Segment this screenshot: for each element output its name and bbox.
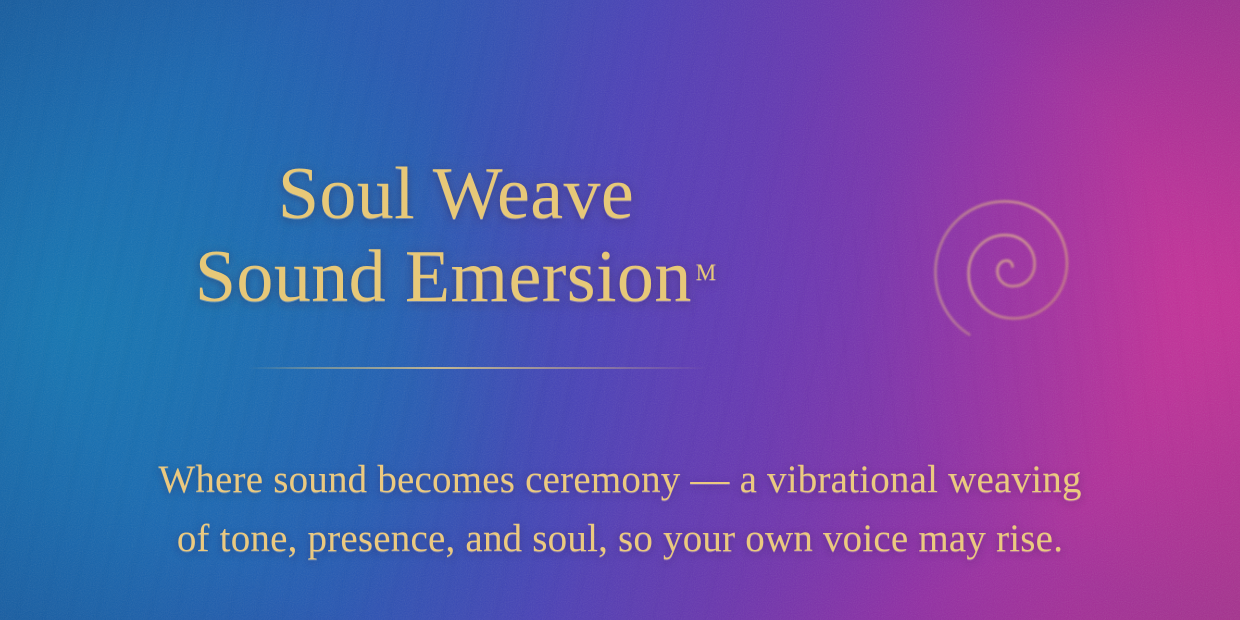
banner-content: Soul Weave Sound EmersionM Where sound b… — [0, 0, 1240, 620]
headline-line-2-text: Sound Emersion — [195, 236, 692, 318]
headline-line-1: Soul Weave — [0, 154, 912, 235]
trademark-mark: M — [696, 260, 717, 285]
brand-banner: Soul Weave Sound EmersionM Where sound b… — [0, 0, 1240, 620]
tagline: Where sound becomes ceremony — a vibrati… — [0, 451, 1240, 568]
page-title: Soul Weave Sound EmersionM — [0, 154, 912, 319]
tagline-line-1: Where sound becomes ceremony — a vibrati… — [0, 451, 1240, 510]
gold-hairline-divider — [248, 367, 708, 369]
tagline-line-2: of tone, presence, and soul, so your own… — [0, 510, 1240, 569]
headline-line-2: Sound EmersionM — [0, 237, 912, 318]
